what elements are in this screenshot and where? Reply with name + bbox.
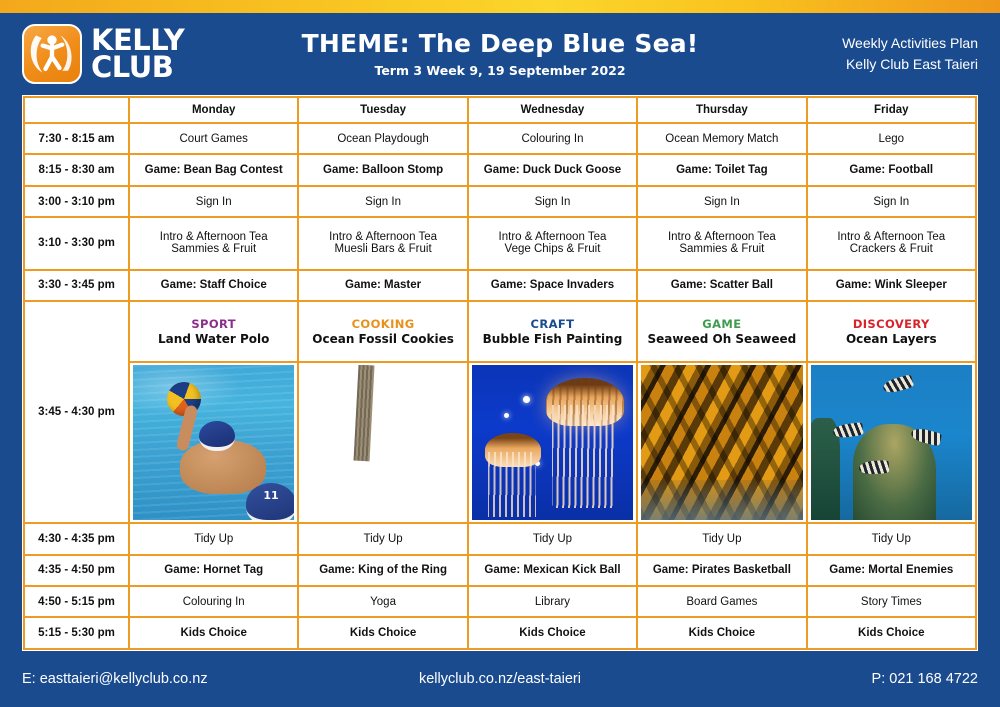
activity-label-row: 3:45 - 4:30 pm SPORT Land Water Polo COO… (24, 301, 976, 362)
jellyfish-photo (472, 365, 633, 520)
activity-cell: Tidy Up (807, 523, 976, 554)
logo-line-2: CLUB (91, 54, 184, 81)
game-cell: Game: Balloon Stomp (298, 154, 467, 185)
game-cell: Game: Scatter Ball (637, 270, 806, 301)
activity-cell: Tidy Up (129, 523, 298, 554)
fossil-streak (353, 365, 374, 461)
bubble-dot (504, 413, 509, 418)
activity-name: Land Water Polo (133, 332, 294, 346)
table-row: 3:30 - 3:45 pm Game: Staff Choice Game: … (24, 270, 976, 301)
table-row: 4:50 - 5:15 pm Colouring In Yoga Library… (24, 586, 976, 617)
photo-cell-craft (468, 362, 637, 523)
activity-header-game: GAME Seaweed Oh Seaweed (637, 301, 806, 362)
day-header-thursday: Thursday (637, 97, 806, 123)
activity-category: CRAFT (472, 317, 633, 331)
footer-phone: P: 021 168 4722 (663, 671, 978, 687)
header-right-info: Weekly Activities Plan Kelly Club East T… (842, 33, 978, 75)
swimmer-cap-number-11 (246, 483, 294, 520)
activity-cell: Tidy Up (637, 523, 806, 554)
time-label: 3:45 - 4:30 pm (24, 301, 129, 523)
game-cell: Game: Wink Sleeper (807, 270, 976, 301)
table-row: 4:35 - 4:50 pm Game: Hornet Tag Game: Ki… (24, 555, 976, 586)
activity-cell: Tidy Up (298, 523, 467, 554)
game-cell: Game: Football (807, 154, 976, 185)
table-row: 3:00 - 3:10 pm Sign In Sign In Sign In S… (24, 186, 976, 217)
tea-cell: Intro & Afternoon Tea Crackers & Fruit (807, 217, 976, 269)
table-corner-cell (24, 97, 129, 123)
kids-choice-cell: Kids Choice (637, 617, 806, 649)
time-label: 4:30 - 4:35 pm (24, 523, 129, 554)
kids-choice-cell: Kids Choice (129, 617, 298, 649)
game-cell: Game: Pirates Basketball (637, 555, 806, 586)
kelly-club-child-swoosh-icon (22, 24, 82, 84)
tea-line-2: Muesli Bars & Fruit (302, 243, 463, 255)
activity-cell: Lego (807, 123, 976, 154)
game-cell: Game: Mortal Enemies (807, 555, 976, 586)
kids-choice-cell: Kids Choice (468, 617, 637, 649)
striped-fish (832, 422, 864, 439)
tea-line-1: Intro & Afternoon Tea (499, 231, 607, 243)
game-cell: Game: Hornet Tag (129, 555, 298, 586)
activity-cell: Sign In (468, 186, 637, 217)
ammonite-fossil-photo (302, 365, 463, 520)
day-header-monday: Monday (129, 97, 298, 123)
top-gradient-bar (0, 0, 1000, 13)
table-row: 3:10 - 3:30 pm Intro & Afternoon Tea Sam… (24, 217, 976, 269)
game-cell: Game: Staff Choice (129, 270, 298, 301)
activity-photo-row (24, 362, 976, 523)
table-row: 8:15 - 8:30 am Game: Bean Bag Contest Ga… (24, 154, 976, 185)
table-row: 4:30 - 4:35 pm Tidy Up Tidy Up Tidy Up T… (24, 523, 976, 554)
time-label: 3:30 - 3:45 pm (24, 270, 129, 301)
coral-reef-fish-photo (811, 365, 972, 520)
schedule-table: Monday Tuesday Wednesday Thursday Friday… (23, 96, 977, 650)
bubble-dot (523, 396, 530, 403)
photo-cell-sport (129, 362, 298, 523)
day-header-friday: Friday (807, 97, 976, 123)
kids-choice-cell: Kids Choice (807, 617, 976, 649)
activity-header-craft: CRAFT Bubble Fish Painting (468, 301, 637, 362)
tea-line-1: Intro & Afternoon Tea (160, 231, 268, 243)
activity-cell: Library (468, 586, 637, 617)
activity-header-discovery: DISCOVERY Ocean Layers (807, 301, 976, 362)
activity-cell: Tidy Up (468, 523, 637, 554)
tea-line-2: Sammies & Fruit (641, 243, 802, 255)
swimmer-cap (199, 421, 235, 451)
activity-category: GAME (641, 317, 802, 331)
weekly-activities-poster: KELLY CLUB THEME: The Deep Blue Sea! Ter… (0, 0, 1000, 707)
activity-name: Ocean Fossil Cookies (302, 332, 463, 346)
activity-cell: Ocean Playdough (298, 123, 467, 154)
poster-header: KELLY CLUB THEME: The Deep Blue Sea! Ter… (0, 13, 1000, 95)
time-label: 3:10 - 3:30 pm (24, 217, 129, 269)
activity-cell: Colouring In (129, 586, 298, 617)
game-cell: Game: Space Invaders (468, 270, 637, 301)
activity-category: DISCOVERY (811, 317, 972, 331)
day-header-tuesday: Tuesday (298, 97, 467, 123)
photo-cell-cooking (298, 362, 467, 523)
activity-cell: Ocean Memory Match (637, 123, 806, 154)
table-header-row: Monday Tuesday Wednesday Thursday Friday (24, 97, 976, 123)
activity-cell: Yoga (298, 586, 467, 617)
photo-cell-game (637, 362, 806, 523)
game-cell: Game: Duck Duck Goose (468, 154, 637, 185)
tea-cell: Intro & Afternoon Tea Sammies & Fruit (129, 217, 298, 269)
tea-cell: Intro & Afternoon Tea Vege Chips & Fruit (468, 217, 637, 269)
game-cell: Game: Mexican Kick Ball (468, 555, 637, 586)
kelly-club-logo: KELLY CLUB (22, 24, 322, 84)
tea-line-2: Crackers & Fruit (811, 243, 972, 255)
activity-cell: Board Games (637, 586, 806, 617)
tea-line-1: Intro & Afternoon Tea (668, 231, 776, 243)
kelp-seaweed-photo (641, 365, 802, 520)
game-cell: Game: King of the Ring (298, 555, 467, 586)
club-name: Kelly Club East Taieri (842, 54, 978, 75)
tea-cell: Intro & Afternoon Tea Muesli Bars & Frui… (298, 217, 467, 269)
activity-header-sport: SPORT Land Water Polo (129, 301, 298, 362)
activity-category: COOKING (302, 317, 463, 331)
tea-line-1: Intro & Afternoon Tea (329, 231, 437, 243)
table-row: 5:15 - 5:30 pm Kids Choice Kids Choice K… (24, 617, 976, 649)
plan-label: Weekly Activities Plan (842, 33, 978, 54)
tea-cell: Intro & Afternoon Tea Sammies & Fruit (637, 217, 806, 269)
jellyfish-tentacles-large (552, 405, 616, 507)
water-polo-photo (133, 365, 294, 520)
tea-line-2: Sammies & Fruit (133, 243, 294, 255)
time-label: 4:35 - 4:50 pm (24, 555, 129, 586)
activity-header-cooking: COOKING Ocean Fossil Cookies (298, 301, 467, 362)
kelly-club-wordmark: KELLY CLUB (91, 27, 184, 80)
game-cell: Game: Master (298, 270, 467, 301)
tea-line-1: Intro & Afternoon Tea (837, 231, 945, 243)
schedule-table-wrap: Monday Tuesday Wednesday Thursday Friday… (22, 95, 978, 651)
time-label: 4:50 - 5:15 pm (24, 586, 129, 617)
time-label: 7:30 - 8:15 am (24, 123, 129, 154)
activity-name: Ocean Layers (811, 332, 972, 346)
kids-choice-cell: Kids Choice (298, 617, 467, 649)
activity-cell: Court Games (129, 123, 298, 154)
activity-name: Bubble Fish Painting (472, 332, 633, 346)
game-cell: Game: Toilet Tag (637, 154, 806, 185)
activity-cell: Sign In (298, 186, 467, 217)
time-label: 3:00 - 3:10 pm (24, 186, 129, 217)
footer-email[interactable]: E: easttaieri@kellyclub.co.nz (22, 671, 337, 687)
photo-cell-discovery (807, 362, 976, 523)
footer-website[interactable]: kellyclub.co.nz/east-taieri (337, 671, 662, 687)
activity-cell: Colouring In (468, 123, 637, 154)
activity-cell: Sign In (807, 186, 976, 217)
activity-cell: Sign In (637, 186, 806, 217)
jellyfish-tentacles-small (488, 452, 536, 517)
game-cell: Game: Bean Bag Contest (129, 154, 298, 185)
striped-fish (882, 374, 914, 395)
tea-line-2: Vege Chips & Fruit (472, 243, 633, 255)
day-header-wednesday: Wednesday (468, 97, 637, 123)
striped-fish (859, 460, 890, 475)
time-label: 8:15 - 8:30 am (24, 154, 129, 185)
time-label: 5:15 - 5:30 pm (24, 617, 129, 649)
activity-cell: Story Times (807, 586, 976, 617)
activity-name: Seaweed Oh Seaweed (641, 332, 802, 346)
activity-cell: Sign In (129, 186, 298, 217)
table-row: 7:30 - 8:15 am Court Games Ocean Playdou… (24, 123, 976, 154)
activity-category: SPORT (133, 317, 294, 331)
poster-footer: E: easttaieri@kellyclub.co.nz kellyclub.… (0, 651, 1000, 707)
